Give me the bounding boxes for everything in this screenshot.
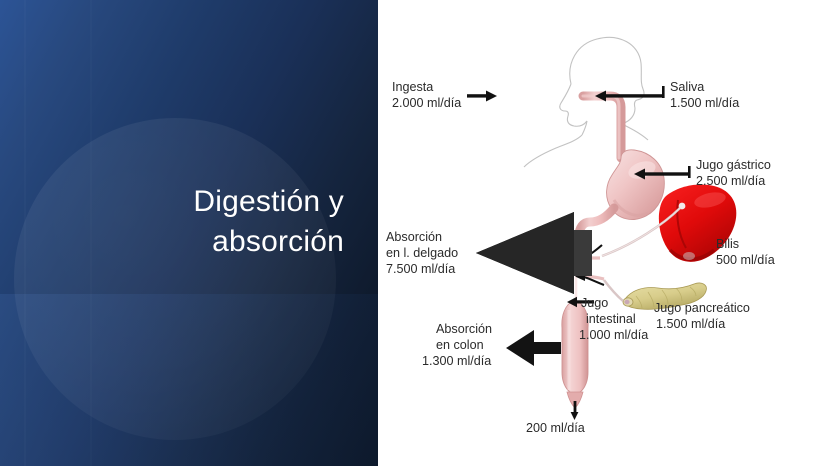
label-saliva: Saliva 1.500 ml/día — [670, 80, 739, 110]
label-absorcion-colon: Absorción en colon 1.300 ml/día — [422, 322, 496, 368]
label-ingesta: Ingesta 2.000 ml/día — [392, 80, 461, 110]
body-silhouette-icon — [524, 37, 648, 167]
saliva-arrow-icon — [595, 86, 665, 102]
ingesta-arrow-icon — [467, 91, 497, 102]
colon-shape — [562, 300, 588, 408]
decorative-circle — [14, 118, 336, 440]
digestive-system-diagram: Ingesta 2.000 ml/día Saliva 1.500 ml/día… — [378, 0, 828, 466]
diagram-canvas: Ingesta 2.000 ml/día Saliva 1.500 ml/día… — [378, 0, 828, 466]
title-panel: Digestión y absorción — [0, 0, 378, 466]
page-title: Digestión y absorción — [92, 182, 344, 262]
label-absorcion-delgado: Absorción en l. delgado 7.500 ml/día — [386, 230, 462, 276]
label-heces: 200 ml/día — [526, 421, 585, 435]
absorcion-colon-arrow-icon — [506, 330, 561, 366]
label-jugo-pancreatico: Jugo pancreático 1.500 ml/día — [654, 301, 753, 331]
slide: Digestión y absorción — [0, 0, 828, 466]
label-jugo-gastrico: Jugo gástrico 2.500 ml/día — [696, 158, 774, 188]
label-bilis: Bilis 500 ml/día — [716, 237, 775, 267]
